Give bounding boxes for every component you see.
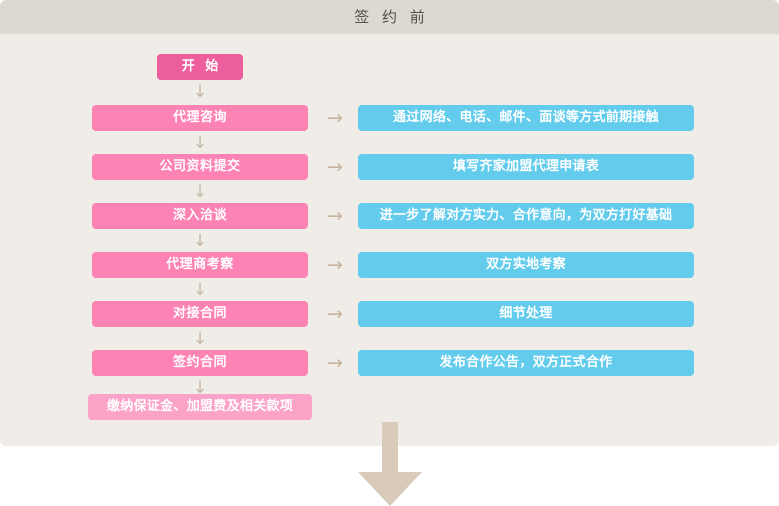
down-arrow-icon: ↓ (188, 280, 212, 300)
page-title: 签 约 前 (0, 0, 779, 34)
big-arrow-shaft (382, 422, 398, 478)
flow-node-step: 签约合同 (92, 350, 308, 376)
right-arrow-icon: → (316, 350, 354, 376)
flow-node-step: 代理咨询 (92, 105, 308, 131)
flow-row: 深入洽谈 → 进一步了解对方实力、合作意向，为双方打好基础 (0, 203, 779, 229)
flow-diagram: 开 始 ↓ 代理咨询 → 通过网络、电话、邮件、面谈等方式前期接触 ↓ 公司资料… (0, 34, 779, 446)
down-arrow-icon: ↓ (188, 82, 212, 102)
flow-row: 对接合同 → 细节处理 (0, 301, 779, 327)
right-arrow-icon: → (316, 252, 354, 278)
down-arrow-icon: ↓ (188, 133, 212, 153)
right-arrow-icon: → (316, 301, 354, 327)
flow-node-step: 公司资料提交 (92, 154, 308, 180)
flow-node-final-payment: 缴纳保证金、加盟费及相关款项 (88, 394, 312, 420)
flow-node-detail: 通过网络、电话、邮件、面谈等方式前期接触 (358, 105, 694, 131)
right-arrow-icon: → (316, 154, 354, 180)
down-arrow-icon: ↓ (188, 329, 212, 349)
right-arrow-icon: → (316, 203, 354, 229)
flow-node-step: 对接合同 (92, 301, 308, 327)
flowchart-panel: 签 约 前 开 始 ↓ 代理咨询 → 通过网络、电话、邮件、面谈等方式前期接触 … (0, 0, 779, 446)
flow-row: 代理商考察 → 双方实地考察 (0, 252, 779, 278)
flow-node-detail: 填写齐家加盟代理申请表 (358, 154, 694, 180)
flow-node-detail: 进一步了解对方实力、合作意向，为双方打好基础 (358, 203, 694, 229)
flow-row: 签约合同 → 发布合作公告，双方正式合作 (0, 350, 779, 376)
continue-down-arrow-icon (358, 422, 422, 506)
flow-node-detail: 双方实地考察 (358, 252, 694, 278)
flow-node-start: 开 始 (157, 54, 243, 80)
panel-header: 签 约 前 (0, 0, 779, 34)
down-arrow-icon: ↓ (188, 231, 212, 251)
big-arrow-head (358, 472, 422, 506)
flow-node-detail: 细节处理 (358, 301, 694, 327)
flow-node-detail: 发布合作公告，双方正式合作 (358, 350, 694, 376)
flow-row: 公司资料提交 → 填写齐家加盟代理申请表 (0, 154, 779, 180)
right-arrow-icon: → (316, 105, 354, 131)
flow-node-step: 代理商考察 (92, 252, 308, 278)
flow-row: 代理咨询 → 通过网络、电话、邮件、面谈等方式前期接触 (0, 105, 779, 131)
down-arrow-icon: ↓ (188, 182, 212, 202)
flow-node-step: 深入洽谈 (92, 203, 308, 229)
